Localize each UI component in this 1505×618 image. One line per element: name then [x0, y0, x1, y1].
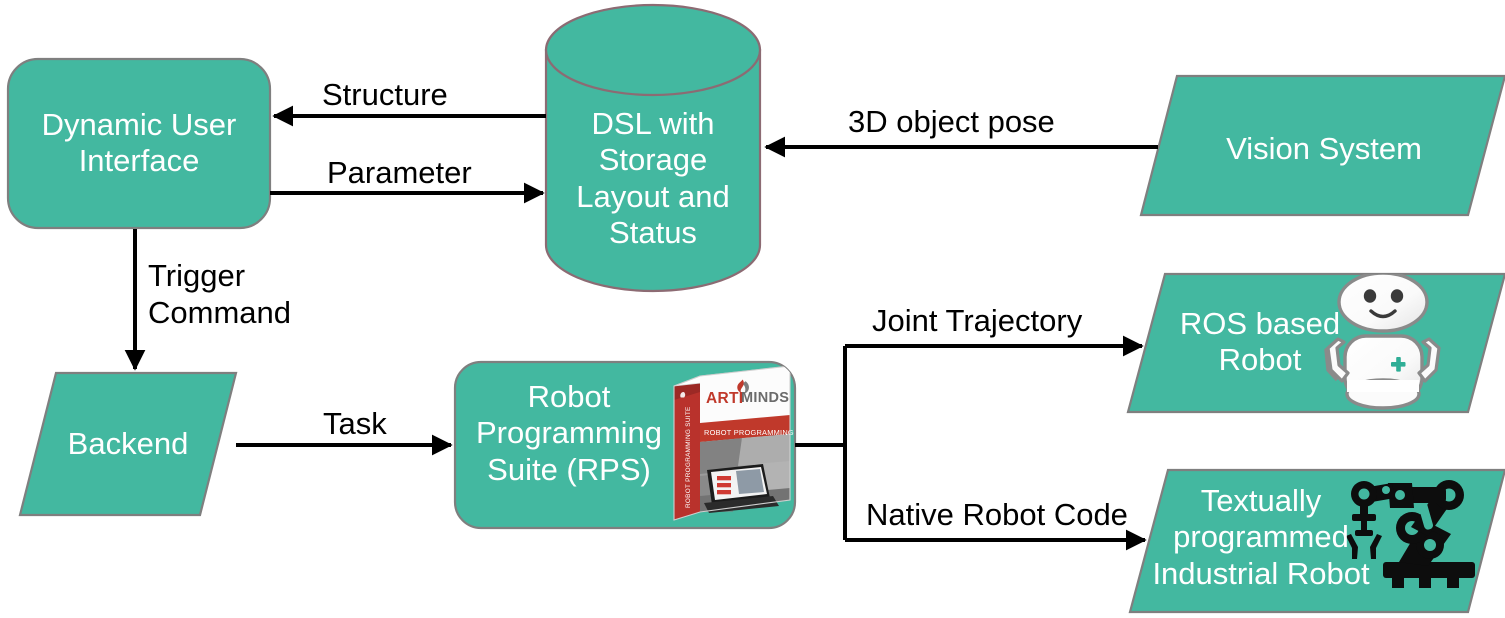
edge-label-task: Task — [323, 406, 387, 443]
diagram-canvas: ARTI MINDS ROBOT PROGRAMMING SUITE ROBOT… — [0, 0, 1505, 618]
edge-label-trigger-command: Trigger Command — [148, 258, 291, 331]
edge-label-parameter: Parameter — [327, 155, 472, 192]
edge-label-object-pose: 3D object pose — [848, 104, 1055, 141]
edge-label-native-robot-code: Native Robot Code — [866, 497, 1128, 534]
edge-label-joint-trajectory: Joint Trajectory — [872, 303, 1082, 340]
edge-label-structure: Structure — [322, 77, 448, 114]
